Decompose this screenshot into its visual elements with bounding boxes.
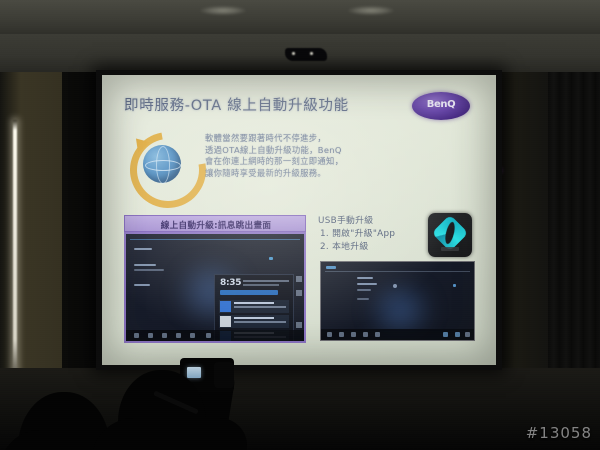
notification-body bbox=[234, 321, 286, 323]
screenshot-label bbox=[357, 298, 369, 300]
usb-panel-heading: USB手動升級 bbox=[318, 213, 373, 226]
notification-icon bbox=[220, 316, 231, 327]
watermark: #13058 bbox=[526, 424, 592, 442]
benq-logo-text: BenQ bbox=[412, 99, 470, 110]
body-line: 讓你隨時享受最新的升級服務。 bbox=[205, 168, 425, 180]
screenshot-label bbox=[357, 289, 371, 291]
screenshot-label bbox=[326, 266, 336, 269]
notification-tray-bar bbox=[220, 290, 278, 295]
taskbar-icon bbox=[443, 332, 448, 337]
slide-title: 即時服務-OTA 線上自動升級功能 bbox=[124, 94, 414, 115]
usb-step: 1. 開啟"升級"App bbox=[320, 226, 395, 239]
usb-step: 2. 本地升級 bbox=[320, 239, 368, 252]
screenshot-label bbox=[134, 248, 152, 250]
ota-panel-banner-label: 線上自動升級:訊息跳出畫面 bbox=[125, 219, 307, 231]
screenshot-label bbox=[134, 264, 156, 266]
slide-body-text: 軟體當然要跟著時代不停進步， 透過OTA線上自動升級功能，BenQ 會在你連上網… bbox=[205, 133, 425, 179]
side-icon bbox=[296, 276, 302, 282]
ceiling-projector-mount bbox=[285, 48, 327, 61]
side-icon bbox=[296, 290, 302, 296]
screenshot-topline bbox=[325, 271, 470, 272]
notification-icon bbox=[220, 301, 231, 312]
presentation-slide: 即時服務-OTA 線上自動升級功能 BenQ 軟體當然要跟著時代不停進步， 透過… bbox=[102, 75, 496, 365]
screenshot-label bbox=[357, 277, 373, 279]
notification-date-sub bbox=[243, 284, 279, 286]
taskbar-icon bbox=[148, 333, 153, 338]
upgrade-app-icon bbox=[428, 213, 472, 257]
camera-lens bbox=[214, 362, 234, 388]
body-line: 會在你連上網時的那一刻立即通知， bbox=[205, 156, 425, 168]
taskbar-icon bbox=[134, 333, 139, 338]
projection-screen: 即時服務-OTA 線上自動升級功能 BenQ 軟體當然要跟著時代不停進步， 透過… bbox=[102, 75, 496, 365]
ota-notification-panel: 線上自動升級:訊息跳出畫面 8:35 bbox=[124, 215, 306, 343]
side-icon bbox=[296, 322, 302, 328]
ceiling bbox=[0, 0, 600, 38]
camera-lcd-screen bbox=[187, 367, 201, 378]
taskbar-icon bbox=[206, 333, 211, 338]
screenshot-label bbox=[134, 284, 150, 286]
notification-clock: 8:35 bbox=[220, 278, 241, 288]
window-light-strip bbox=[13, 120, 17, 378]
upgrade-swirl-icon bbox=[432, 215, 469, 252]
body-line: 軟體當然要跟著時代不停進步， bbox=[205, 133, 425, 145]
benq-logo: BenQ bbox=[412, 92, 470, 120]
ceiling-light bbox=[348, 6, 394, 15]
notification-title bbox=[234, 317, 274, 319]
taskbar-icon bbox=[351, 332, 356, 337]
screenshot-dot bbox=[269, 257, 273, 260]
notification-title bbox=[234, 302, 274, 304]
usb-panel-screenshot bbox=[320, 261, 475, 341]
globe-icon bbox=[143, 145, 181, 183]
taskbar-icon bbox=[375, 332, 380, 337]
screenshot-cursor bbox=[393, 284, 397, 288]
screenshot-label bbox=[357, 283, 377, 285]
screenshot-taskbar bbox=[126, 330, 304, 341]
taskbar-icon bbox=[190, 333, 195, 338]
ota-globe-graphic bbox=[130, 132, 192, 194]
screenshot-taskbar bbox=[321, 329, 474, 340]
taskbar-icon bbox=[176, 333, 181, 338]
body-line: 透過OTA線上自動升級功能，BenQ bbox=[205, 145, 425, 157]
notification-body bbox=[234, 306, 286, 308]
notification-date bbox=[243, 280, 289, 282]
taskbar-icon bbox=[465, 332, 470, 337]
taskbar-icon bbox=[162, 333, 167, 338]
taskbar-icon bbox=[363, 332, 368, 337]
ceiling-light bbox=[200, 6, 246, 15]
app-icon-label bbox=[441, 247, 459, 251]
taskbar-icon bbox=[339, 332, 344, 337]
screenshot-label bbox=[134, 269, 164, 271]
notification-item bbox=[219, 300, 289, 313]
screenshot-topline bbox=[130, 239, 300, 240]
usb-upgrade-panel: USB手動升級 1. 開啟"升級"App 2. 本地升級 bbox=[318, 213, 478, 343]
screenshot-dot bbox=[453, 284, 456, 287]
conference-room-photo: 即時服務-OTA 線上自動升級功能 BenQ 軟體當然要跟著時代不停進步， 透過… bbox=[0, 0, 600, 450]
taskbar-icon bbox=[327, 332, 332, 337]
ota-panel-screenshot: 8:35 bbox=[124, 232, 306, 343]
audience-shoulders bbox=[92, 418, 247, 450]
notification-item bbox=[219, 315, 289, 328]
taskbar-icon bbox=[455, 332, 460, 337]
ota-panel-banner: 線上自動升級:訊息跳出畫面 bbox=[124, 215, 306, 232]
